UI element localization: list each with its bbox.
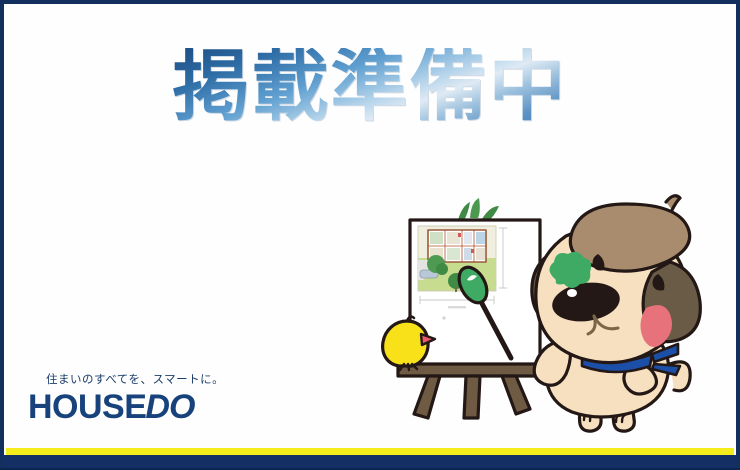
easel-leg-left xyxy=(414,376,440,418)
beret-stem xyxy=(666,196,680,210)
easel-crossbar xyxy=(398,364,546,376)
frame-left-edge xyxy=(0,0,4,470)
dog-mascot xyxy=(532,196,700,431)
plant-behind-canvas xyxy=(458,198,499,221)
navy-footer-bar xyxy=(4,455,736,468)
logo-do-text: DO xyxy=(145,390,194,424)
logo-house-text: HOUSE xyxy=(28,390,146,424)
headline-container: 掲載準備中 xyxy=(0,48,740,129)
yellow-stripe xyxy=(6,448,734,455)
brand-block: 住まいのすべてを、スマートに。 HOUSE DO xyxy=(28,371,224,424)
illustration-dog-easel xyxy=(370,188,730,438)
housedo-logo: HOUSE DO xyxy=(28,390,224,424)
page-title: 掲載準備中 xyxy=(173,48,568,129)
brand-tagline: 住まいのすべてを、スマートに。 xyxy=(46,371,224,387)
frame-top-edge xyxy=(0,0,740,4)
frame-right-edge xyxy=(736,0,740,470)
placeholder-image-card: 掲載準備中 xyxy=(0,0,740,470)
easel-leg-center xyxy=(464,376,480,418)
easel-leg-right xyxy=(502,376,530,414)
